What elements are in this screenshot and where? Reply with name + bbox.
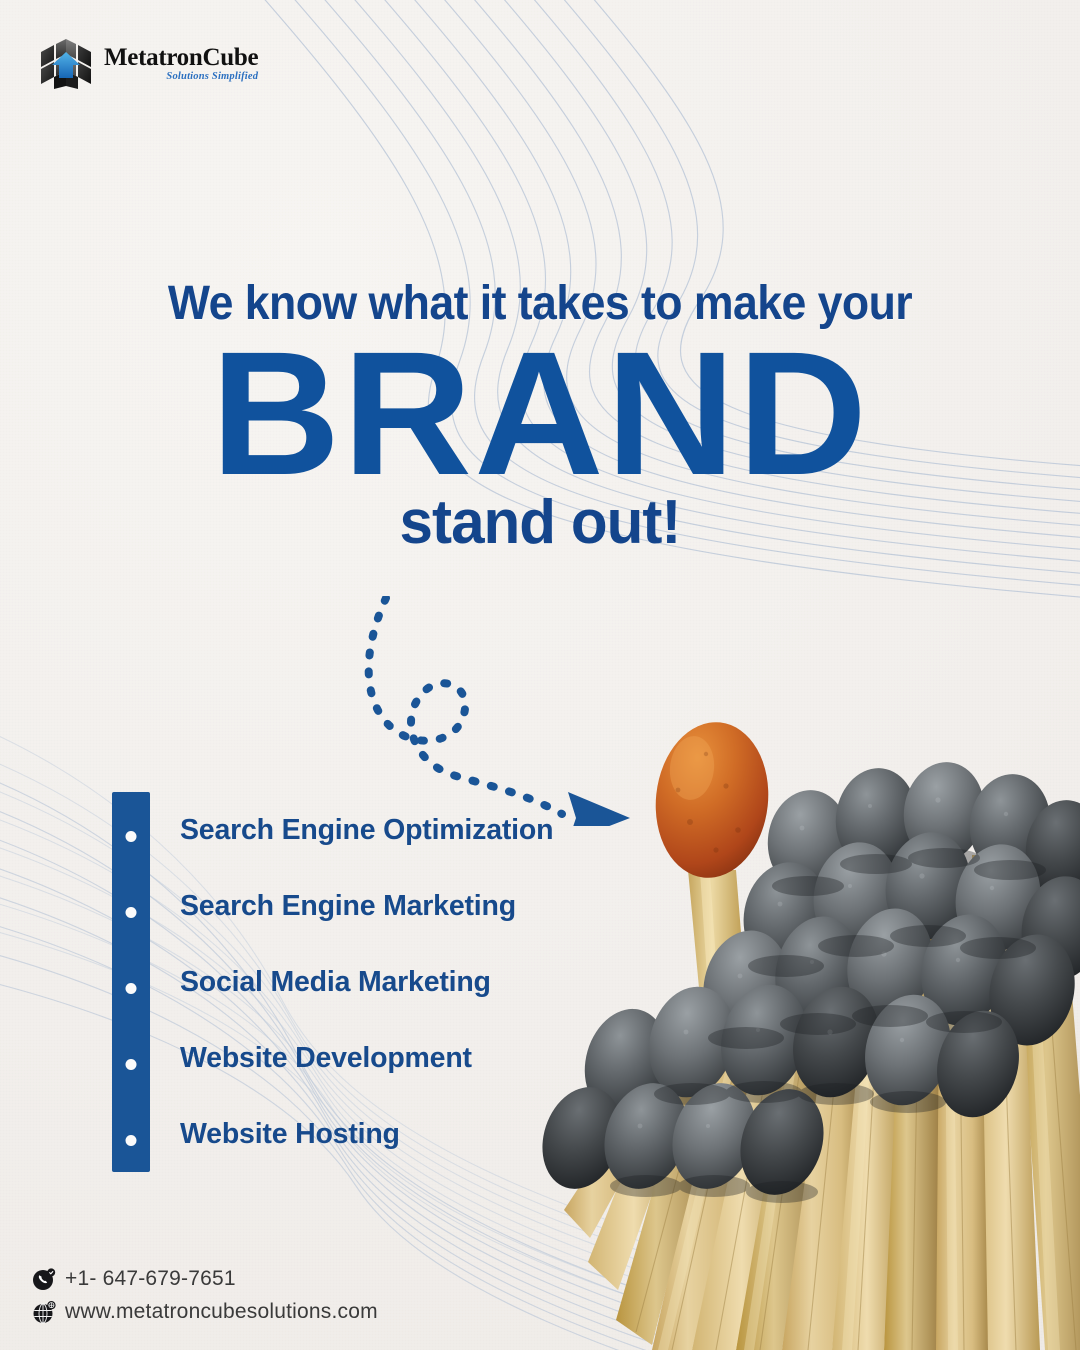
headline-line-3: stand out! [16, 492, 1064, 554]
service-label: Social Media Marketing [180, 966, 491, 999]
service-label: Search Engine Optimization [180, 814, 553, 847]
list-item[interactable]: Search Engine Optimization [180, 792, 700, 868]
website-row[interactable]: www.metatroncubesolutions.com [32, 1300, 378, 1324]
phone-number: +1- 647-679-7651 [65, 1267, 236, 1291]
headline-brand-word: BRAND [0, 342, 1080, 486]
bullet-dot [126, 1135, 137, 1146]
headline-block: We know what it takes to make your BRAND… [0, 280, 1080, 554]
service-label: Search Engine Marketing [180, 890, 516, 923]
cube-logo-icon [38, 36, 94, 92]
website-url: www.metatroncubesolutions.com [65, 1300, 378, 1324]
phone-row[interactable]: +1- 647-679-7651 [32, 1267, 378, 1291]
service-label: Website Development [180, 1042, 472, 1075]
phone-icon [32, 1267, 56, 1291]
list-item[interactable]: Website Hosting [180, 1096, 700, 1172]
brand-logo: MetatronCube Solutions Simplified [38, 36, 258, 92]
list-item[interactable]: Website Development [180, 1020, 700, 1096]
list-item[interactable]: Search Engine Marketing [180, 868, 700, 944]
service-label: Website Hosting [180, 1118, 400, 1151]
logo-tagline: Solutions Simplified [104, 72, 258, 83]
logo-name: MetatronCube [104, 45, 258, 70]
list-item[interactable]: Social Media Marketing [180, 944, 700, 1020]
footer-contact: +1- 647-679-7651 www. [32, 1267, 378, 1324]
bullet-dot [126, 831, 137, 842]
bullet-dot [126, 907, 137, 918]
services-accent-bar [112, 792, 150, 1172]
poster-canvas: MetatronCube Solutions Simplified We kno… [0, 0, 1080, 1350]
bullet-dot [126, 1059, 137, 1070]
bullet-dot [126, 983, 137, 994]
globe-icon [32, 1300, 56, 1324]
